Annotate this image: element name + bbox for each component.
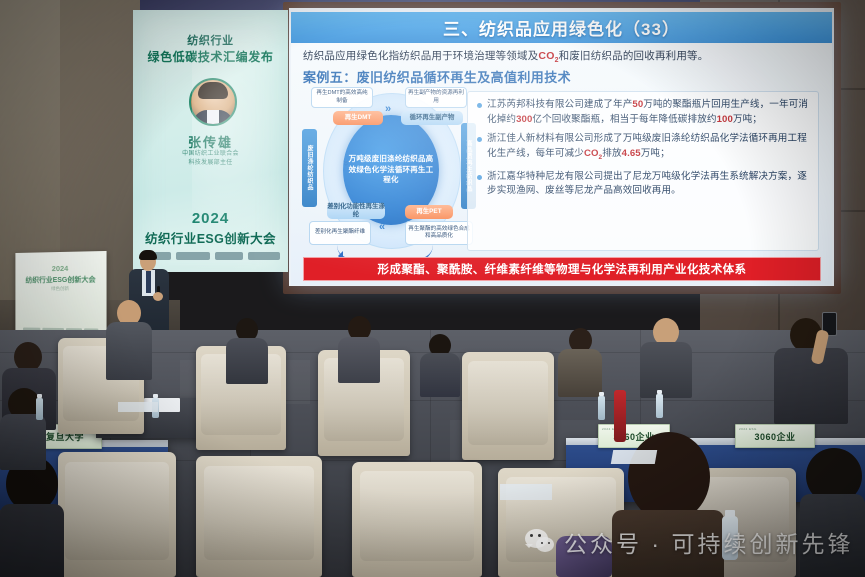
slide-lead-paragraph: 纺织品应用绿色化指纺织品用于环境治理等领域及CO2和废旧纺织品的回收再利用等。	[303, 49, 821, 68]
poster-speaker-avatar	[189, 78, 237, 126]
case-bullet-panel: 江苏芮邦科技有限公司建成了年产50万吨的聚酯瓶片回用生产线，一年可消化掉约300…	[467, 91, 819, 251]
bullet-1-value-2: 300	[516, 114, 532, 125]
wechat-icon	[525, 529, 555, 555]
audience-person-2	[106, 300, 152, 378]
bullet-2-co2: CO2	[584, 148, 602, 159]
diagram-box-top-left: 再生DMT的高效高纯制备	[311, 87, 373, 108]
person-7-body	[640, 342, 692, 398]
name-card-3060-b: 2024 ESG 3060企业	[735, 424, 815, 448]
slide-conclusion-text: 形成聚酯、聚酰胺、纤维素纤维等物理与化学法再利用产业化技术体系	[378, 261, 747, 277]
poster-speaker-name: 张传雄	[133, 132, 288, 151]
diagram-tag-pet: 再生PET	[405, 205, 453, 219]
conference-photo-scene: 三、纺织品应用绿色化（33） 纺织品应用绿色化指纺织品用于环境治理等领域及CO2…	[0, 0, 865, 577]
front-left-body	[0, 504, 64, 577]
bullet-item-3: 浙江嘉华特种尼龙有限公司提出了尼龙万吨级化学法再生系统解决方案，逐步实现渔网、废…	[476, 170, 810, 199]
water-bottle-4	[656, 394, 663, 418]
name-card-mini-label-b: 2024 ESG	[739, 427, 757, 431]
watermark: 公众号 · 可持续创新先锋	[525, 524, 853, 560]
chevron-down-icon: »	[418, 162, 430, 168]
front-mid-head	[628, 432, 710, 522]
audience-person-5	[420, 334, 460, 392]
slide-title-bar: 三、纺织品应用绿色化（33）	[291, 12, 832, 43]
bullet-2-co2-symbol: CO	[584, 148, 599, 159]
bullet-2-value: 4.65	[622, 148, 641, 159]
speaker-hair	[139, 250, 157, 260]
bullet-1-post: 万吨；	[733, 114, 762, 125]
bullet-3-text: 浙江嘉华特种尼龙有限公司提出了尼龙万吨级化学法再生系统解决方案，逐步实现渔网、废…	[487, 171, 807, 197]
thermos-red	[614, 390, 626, 442]
chevron-left-icon: «	[379, 221, 385, 233]
speaker-tie	[146, 271, 151, 293]
recycling-cycle-diagram: 万吨级废旧涤纶纺织品高效绿色化学法循环再生工程化 再生DMT的高效高纯制备 再生…	[301, 87, 479, 255]
diagram-box-top-right: 再生副产物的资源再利用	[405, 87, 467, 108]
chevron-up-icon: «	[340, 160, 352, 166]
water-bottle-1	[36, 398, 43, 420]
poster-line-1: 纺织行业	[133, 32, 288, 48]
bullet-1-pre: 江苏芮邦科技有限公司建成了年产	[487, 99, 632, 110]
lead-suffix: 和废旧纺织品的回收再利用等。	[559, 50, 709, 62]
audience-person-7	[640, 318, 692, 394]
bullet-2-post: 万吨；	[641, 148, 670, 159]
audience-person-3	[226, 318, 268, 380]
audience-person-6	[558, 328, 602, 392]
name-card-3060-b-text: 3060企业	[754, 430, 795, 443]
speaker-hand	[153, 292, 163, 301]
diagram-box-bottom-left: 差别化再生聚酯纤维	[309, 221, 371, 245]
case-heading: 案例五：废旧纺织品循环再生及高值利用技术	[303, 67, 571, 86]
bullet-1-value-3: 100	[717, 114, 733, 125]
paper-sheet-3	[118, 402, 158, 412]
chair-row1-4	[462, 352, 554, 460]
slide-conclusion-banner: 形成聚酯、聚酰胺、纤维素纤维等物理与化学法再利用产业化技术体系	[303, 257, 821, 281]
audience-person-filming	[770, 310, 848, 420]
person-5-body	[420, 353, 460, 397]
poster-speaker-org: 中国纺织工业联合会 科技发展部主任	[133, 150, 288, 167]
podium-sign-title: 纺织行业ESG创新大会	[15, 274, 106, 285]
bullet-item-2: 浙江佳人新材料有限公司形成了万吨级废旧涤纶纺织品化学法循环再用工程化生产线，每年…	[476, 132, 810, 165]
chevron-right-icon: »	[385, 103, 391, 115]
diagram-tag-byproduct: 循环再生副产物	[401, 111, 463, 125]
co2-formula: CO2	[538, 50, 558, 62]
audience-person-front-left	[0, 456, 64, 577]
chair-row2-3	[352, 462, 482, 577]
poster-org-line-1: 中国纺织工业联合会	[182, 151, 239, 157]
podium-sign-subtitle: 绿色创新	[15, 286, 106, 292]
chair-row2-2	[196, 456, 322, 577]
slide-body: 纺织品应用绿色化指纺织品用于环境治理等领域及CO2和废旧纺织品的回收再利用等。 …	[291, 43, 832, 285]
diagram-tag-dmt: 再生DMT	[333, 111, 383, 125]
diagram-tag-polyester: 差别化功能性再生涤纶	[327, 203, 385, 219]
podium-sign-year: 2024	[15, 263, 106, 273]
poster-line-2: 绿色低碳技术汇编发布	[133, 48, 288, 65]
watermark-text: 公众号 · 可持续创新先锋	[564, 525, 853, 559]
person-6-body	[558, 349, 602, 397]
bullet-item-1: 江苏芮邦科技有限公司建成了年产50万吨的聚酯瓶片回用生产线，一年可消化掉约300…	[476, 98, 810, 127]
diagram-box-bottom-right: 再生聚酯的高效绿色合成和高品质化	[405, 221, 473, 245]
water-bottle-3	[598, 396, 605, 420]
poster-conference-name: 纺织行业ESG创新大会	[133, 228, 288, 247]
poster-org-line-2: 科技发展部主任	[188, 160, 232, 166]
rollup-banner-poster: 纺织行业 绿色低碳技术汇编发布 张传雄 中国纺织工业联合会 科技发展部主任 20…	[133, 10, 288, 272]
audience-person-4	[338, 316, 380, 378]
paper-sheet-1	[611, 450, 657, 464]
diagram-center-label: 万吨级废旧涤纶纺织品高效绿色化学法循环再生工程化	[345, 125, 437, 215]
front-far-left-body	[0, 414, 46, 470]
bullet-2-mid: 排放	[602, 148, 621, 159]
bullet-1-mid-2: 亿个回收聚酯瓶，相当于每年降低碳排放约	[532, 114, 716, 125]
lead-prefix: 纺织品应用绿色化指纺织品用于环境治理等领域及	[303, 50, 538, 62]
slide-title-text: 三、纺织品应用绿色化（33）	[443, 15, 680, 40]
co2-symbol: CO	[538, 50, 554, 62]
poster-year: 2024	[133, 210, 288, 227]
bullet-1-value-1: 50	[632, 99, 643, 110]
person-3-body	[226, 338, 268, 384]
person-4-body	[338, 337, 380, 383]
chair-row2-1	[58, 452, 176, 577]
diagram-label-input: 废旧涤纶纺织品	[302, 129, 317, 207]
paper-sheet-2	[500, 484, 552, 500]
person-2-body	[106, 322, 152, 380]
